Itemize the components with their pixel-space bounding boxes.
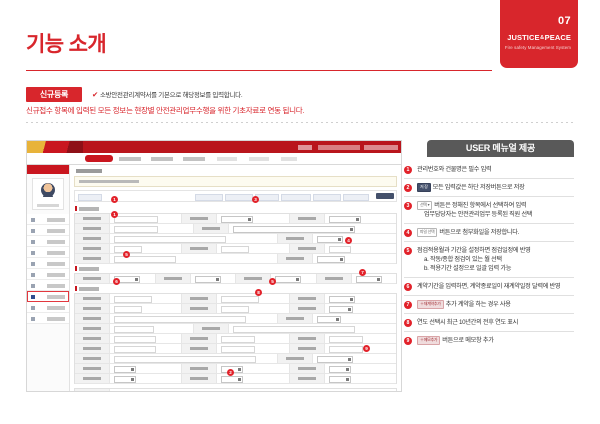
page-title: 기능 소개 — [26, 28, 106, 58]
panel-item-label: 버튼으로 메모창 추가 — [442, 337, 493, 344]
panel-item-text: 연도 선택시 최근 10년간의 전후 연도 표시 — [417, 318, 574, 327]
ctr-label-22 — [75, 374, 110, 383]
panel-item-number: 3 — [404, 202, 412, 210]
brand-subtitle: Fire safety Management System — [500, 45, 571, 50]
app-sidebar — [27, 165, 70, 392]
form-value-9 — [217, 244, 289, 253]
check-icon: ✔ — [92, 90, 98, 99]
ctr-row-5 — [75, 334, 396, 344]
app-section-title-contract — [75, 286, 397, 291]
form-value-12 — [313, 254, 396, 263]
app-nav-item-7[interactable] — [281, 157, 297, 161]
ctr-value-1 — [110, 294, 182, 303]
insp-value-2 — [191, 274, 237, 283]
ctr-label-13 — [290, 334, 325, 343]
ctr-row-7 — [75, 354, 396, 364]
section-note-text: 소방안전관리계약서를 기본으로 해당정보를 입력합니다. — [100, 92, 242, 99]
page-number: 07 — [500, 16, 571, 27]
ctr-label-23 — [182, 374, 217, 383]
form-row-1 — [75, 214, 396, 224]
ctr-input-7[interactable] — [114, 316, 246, 323]
ctr-input-5[interactable] — [221, 306, 249, 313]
form-row-2 — [75, 224, 396, 234]
insp-select-3[interactable] — [275, 276, 301, 283]
dotted-divider — [26, 122, 574, 123]
ctr-value-21 — [325, 364, 396, 373]
filter-select-7[interactable] — [343, 194, 369, 201]
insp-select-4[interactable] — [356, 276, 382, 283]
sidebar-header — [27, 165, 69, 174]
screenshot-marker-5b: 5 — [269, 278, 276, 285]
ctr-label-24 — [290, 374, 325, 383]
form-label-9 — [182, 244, 217, 253]
panel-item-label: 모든 입력값은 하단 저장버튼으로 저장 — [433, 184, 525, 191]
ctr-label-2 — [182, 294, 217, 303]
ctr-input-9[interactable] — [114, 326, 154, 333]
screenshot-marker-5a: 5 — [123, 251, 130, 258]
ctr-select-19[interactable] — [114, 366, 136, 373]
form-select-3[interactable] — [329, 216, 361, 223]
panel-item-text: 계약기간을 입력하면, 계약종료일이 재계약일정 달력에 반영 — [417, 282, 574, 291]
ctr-value-9 — [110, 324, 194, 333]
form-label-8 — [75, 244, 110, 253]
form-label-4 — [75, 224, 110, 233]
ctr-row-9 — [75, 374, 396, 384]
panel-item-number: 2 — [404, 184, 412, 192]
panel-item: 1관리번호와 건물명은 필수 입력 — [404, 161, 574, 179]
panel-item-label: 버튼은 정해진 항목에서 선택하여 입력 — [434, 202, 526, 209]
ctr-row-2 — [75, 304, 396, 314]
ctr-label-4 — [75, 304, 110, 313]
ctr-label-8 — [278, 314, 313, 323]
form-input-4[interactable] — [114, 226, 158, 233]
form-label-6 — [75, 234, 110, 243]
screenshot-marker-7: 7 — [359, 269, 366, 276]
form-value-5 — [229, 224, 396, 233]
ctr-label-5 — [182, 304, 217, 313]
panel-item-button-chip: ＋재계약추가 — [417, 300, 444, 309]
screenshot-marker-2: 2 — [227, 369, 234, 376]
ctr-row-1 — [75, 294, 396, 304]
ctr-input-1[interactable] — [114, 296, 152, 303]
form-value-7 — [313, 234, 396, 243]
ctr-value-24 — [325, 374, 396, 383]
form-value-10 — [325, 244, 396, 253]
sidebar-item-9[interactable] — [27, 302, 69, 313]
screenshot-marker-8: 8 — [255, 289, 262, 296]
app-memo-block — [74, 388, 397, 392]
form-label-2 — [182, 214, 217, 223]
panel-item-text: ＋메모추가버튼으로 메모창 추가 — [417, 336, 574, 345]
form-value-1 — [110, 214, 182, 223]
panel-item-number: 5 — [404, 247, 412, 255]
app-topbar — [27, 141, 401, 153]
screenshot-marker-1a: 1 — [111, 196, 118, 203]
ctr-input-17[interactable] — [114, 356, 256, 363]
ctr-value-18 — [313, 354, 396, 363]
sidebar-item-7[interactable] — [27, 280, 69, 291]
ctr-value-17 — [110, 354, 278, 363]
ctr-label-3 — [290, 294, 325, 303]
panel-item-text: 선택 ▾버튼은 정해진 항목에서 선택하여 입력 — [417, 201, 574, 210]
sidebar-item-2[interactable] — [27, 225, 69, 236]
ctr-date-18[interactable] — [317, 356, 353, 363]
filter-select-2[interactable] — [195, 194, 223, 201]
sidebar-item-selected[interactable] — [27, 291, 69, 302]
ctr-select-8[interactable] — [317, 316, 341, 323]
app-section-title-basic — [75, 206, 397, 211]
sidebar-profile-card — [32, 178, 64, 210]
panel-item-label: 연도 선택시 최근 10년간의 전후 연도 표시 — [417, 319, 518, 326]
panel-item-number: 6 — [404, 283, 412, 291]
filter-select-5[interactable] — [281, 194, 311, 201]
ctr-input-11[interactable] — [114, 336, 156, 343]
panel-item-subtext: a. 작동/종합 점검이 있는 월 선택 — [417, 255, 574, 264]
ctr-label-6 — [290, 304, 325, 313]
screenshot-marker-1b: 1 — [111, 211, 118, 218]
ctr-input-13[interactable] — [329, 336, 363, 343]
panel-item-list: 1관리번호와 건물명은 필수 입력2저 장모든 입력값은 하단 저장버튼으로 저… — [404, 161, 574, 349]
avatar — [41, 183, 55, 197]
form-label-10 — [290, 244, 325, 253]
ctr-label-19 — [75, 364, 110, 373]
ctr-value-6 — [325, 304, 396, 313]
form-select-7[interactable] — [317, 236, 343, 243]
brand-justice: JUSTICE — [507, 33, 539, 42]
form-value-8 — [110, 244, 182, 253]
slide-root: 07 JUSTICE&PEACE Fire safety Management … — [0, 0, 600, 424]
panel-item: 7＋재계약추가추가 계약을 하는 경우 사용 — [404, 296, 574, 314]
ctr-value-2 — [217, 294, 289, 303]
form-label-11 — [75, 254, 110, 263]
ctr-value-5 — [217, 304, 289, 313]
form-attach-button[interactable] — [317, 256, 345, 263]
panel-item-subtext: 업무담당자는 안전관리업무 등록된 직원 선택 — [417, 210, 574, 219]
ctr-row-4 — [75, 324, 396, 334]
app-body — [27, 165, 401, 392]
panel-heading: USER 메뉴얼 제공 — [427, 140, 574, 157]
panel-item-text: 점검적용월과 기간을 설정하면 점검일정에 반영 — [417, 246, 574, 255]
form-select-2[interactable] — [221, 216, 253, 223]
brand-peace: PEACE — [545, 33, 571, 42]
corner-badge: 07 JUSTICE&PEACE Fire safety Management … — [500, 0, 578, 68]
app-screenshot: 1 3 1 4 5 6 5 7 8 9 2 — [26, 140, 402, 392]
form-label-3 — [290, 214, 325, 223]
ctr-input-4[interactable] — [114, 306, 142, 313]
panel-item-button-chip: 파일 선택 — [417, 228, 437, 237]
filter-select-6[interactable] — [313, 194, 341, 201]
app-nav-active-tab[interactable] — [85, 155, 113, 162]
ctr-value-13 — [325, 334, 396, 343]
form-select-5[interactable] — [233, 226, 355, 233]
form-label-7 — [278, 234, 313, 243]
insp-label-1 — [75, 274, 110, 283]
app-main — [70, 165, 401, 392]
ctr-value-19 — [110, 364, 182, 373]
panel-item: 3선택 ▾버튼은 정해진 항목에서 선택하여 입력업무담당자는 안전관리업무 등… — [404, 197, 574, 224]
ctr-value-15 — [217, 344, 289, 353]
ctr-select-22[interactable] — [114, 376, 136, 383]
panel-item-text: ＋재계약추가추가 계약을 하는 경우 사용 — [417, 300, 574, 309]
form-label-12 — [278, 254, 313, 263]
insp-label-3 — [236, 274, 271, 283]
section-lead-text: 신규접수 항목에 입력된 모든 정보는 현장별 안전관리업무수행을 위한 기초자… — [26, 105, 304, 116]
ctr-select-23[interactable] — [221, 376, 243, 383]
brand-name: JUSTICE&PEACE — [500, 33, 571, 42]
panel-item-label: 점검적용월과 기간을 설정하면 점검일정에 반영 — [417, 247, 531, 254]
form-input-6[interactable] — [114, 236, 226, 243]
sidebar-item-10[interactable] — [27, 313, 69, 324]
app-logo — [27, 141, 83, 153]
sidebar-item-1[interactable] — [27, 214, 69, 225]
ctr-row-6 — [75, 344, 396, 354]
ctr-select-3[interactable] — [329, 296, 355, 303]
ctr-label-9 — [75, 324, 110, 333]
ctr-value-3 — [325, 294, 396, 303]
ctr-value-4 — [110, 304, 182, 313]
screenshot-marker-6: 6 — [113, 278, 120, 285]
ctr-label-14 — [75, 344, 110, 353]
ctr-label-11 — [75, 334, 110, 343]
screenshot-marker-9: 9 — [363, 345, 370, 352]
panel-item-number: 1 — [404, 166, 412, 174]
sidebar-item-3[interactable] — [27, 236, 69, 247]
app-nav-item-4[interactable] — [183, 157, 205, 161]
app-section-title-inspection — [75, 266, 397, 271]
app-page-heading — [76, 169, 102, 173]
panel-item-text: 저 장모든 입력값은 하단 저장버튼으로 저장 — [417, 183, 574, 192]
ctr-select-21[interactable] — [329, 366, 351, 373]
form-label-5 — [194, 224, 229, 233]
form-value-11 — [110, 254, 278, 263]
app-notice-box — [74, 176, 397, 187]
filter-select-3[interactable] — [225, 194, 253, 201]
app-filter-bar[interactable] — [74, 190, 397, 202]
insp-label-2 — [156, 274, 191, 283]
ctr-label-18 — [278, 354, 313, 363]
ctr-input-10[interactable] — [233, 326, 355, 333]
ctr-label-10 — [194, 324, 229, 333]
ctr-input-14[interactable] — [114, 346, 156, 353]
ctr-row-3 — [75, 314, 396, 324]
panel-item-label: 계약기간을 입력하면, 계약종료일이 재계약일정 달력에 반영 — [417, 283, 560, 290]
panel-item-number: 4 — [404, 229, 412, 237]
panel-item: 9＋메모추가버튼으로 메모창 추가 — [404, 332, 574, 349]
memo-textarea[interactable] — [112, 391, 394, 392]
form-value-3 — [325, 214, 396, 223]
ctr-label-16 — [290, 344, 325, 353]
panel-item: 2저 장모든 입력값은 하단 저장버튼으로 저장 — [404, 179, 574, 197]
ctr-row-8 — [75, 364, 396, 374]
form-input-9[interactable] — [221, 246, 249, 253]
panel-item: 6계약기간을 입력하면, 계약종료일이 재계약일정 달력에 반영 — [404, 278, 574, 296]
ctr-label-15 — [182, 344, 217, 353]
ctr-value-12 — [217, 334, 289, 343]
panel-item: 8연도 선택시 최근 10년간의 전후 연도 표시 — [404, 314, 574, 332]
panel-item-number: 8 — [404, 319, 412, 327]
sidebar-item-5[interactable] — [27, 258, 69, 269]
ctr-value-7 — [110, 314, 278, 323]
ctr-value-16 — [325, 344, 396, 353]
ctr-label-21 — [290, 364, 325, 373]
ctr-input-15[interactable] — [221, 346, 255, 353]
form-label-1 — [75, 214, 110, 223]
app-form-grid-contract — [74, 293, 397, 384]
ctr-input-16[interactable] — [329, 346, 363, 353]
title-divider — [26, 70, 492, 71]
panel-item-number: 9 — [404, 337, 412, 345]
ctr-value-11 — [110, 334, 182, 343]
form-input-1[interactable] — [114, 216, 158, 223]
filter-select-1[interactable] — [78, 194, 102, 201]
panel-item-button-chip: 선택 ▾ — [417, 201, 432, 210]
app-form-grid-inspection — [74, 273, 397, 284]
panel-item-text: 파일 선택버튼으로 첨부화일을 저장합니다. — [417, 228, 574, 237]
app-nav-item-3[interactable] — [151, 157, 173, 161]
panel-item-button-chip: 저 장 — [417, 183, 431, 192]
ctr-select-6[interactable] — [329, 306, 353, 313]
ctr-value-8 — [313, 314, 396, 323]
ctr-value-22 — [110, 374, 182, 383]
sidebar-item-6[interactable] — [27, 269, 69, 280]
screenshot-marker-4: 4 — [345, 237, 352, 244]
insp-value-3 — [271, 274, 317, 283]
filter-search-button[interactable] — [376, 193, 394, 199]
ctr-label-1 — [75, 294, 110, 303]
ctr-select-24[interactable] — [329, 376, 351, 383]
panel-item-button-chip: ＋메모추가 — [417, 336, 440, 345]
ctr-label-17 — [75, 354, 110, 363]
panel-item-text: 관리번호와 건물명은 필수 입력 — [417, 165, 574, 174]
form-value-6 — [110, 234, 278, 243]
insp-label-4 — [317, 274, 352, 283]
section-tag-badge: 신규등록 — [26, 87, 82, 102]
ctr-value-10 — [229, 324, 396, 333]
form-value-4 — [110, 224, 194, 233]
screenshot-marker-3a: 3 — [252, 196, 259, 203]
insp-select-2[interactable] — [195, 276, 221, 283]
insp-value-4 — [352, 274, 397, 283]
form-input-10[interactable] — [329, 246, 351, 253]
form-value-2 — [217, 214, 289, 223]
panel-item-label: 추가 계약을 하는 경우 사용 — [446, 301, 511, 308]
section-note: ✔소방안전관리계약서를 기본으로 해당정보를 입력합니다. — [92, 89, 242, 99]
app-nav-item-6[interactable] — [249, 157, 269, 161]
app-nav-item-5[interactable] — [217, 157, 237, 161]
insp-row-1 — [75, 274, 396, 284]
panel-item: 5점검적용월과 기간을 설정하면 점검일정에 반영a. 작동/종합 점검이 있는… — [404, 242, 574, 278]
ctr-label-12 — [182, 334, 217, 343]
app-topbar-user-area — [298, 145, 398, 150]
sidebar-item-4[interactable] — [27, 247, 69, 258]
panel-item-label: 버튼으로 첨부화일을 저장합니다. — [439, 229, 519, 236]
app-nav-item-2[interactable] — [119, 157, 141, 161]
app-nav — [27, 153, 401, 165]
panel-item-number: 7 — [404, 301, 412, 309]
user-manual-panel: USER 메뉴얼 제공 1관리번호와 건물명은 필수 입력2저 장모든 입력값은… — [404, 140, 574, 349]
ctr-label-7 — [75, 314, 110, 323]
memo-label — [75, 389, 110, 392]
ctr-label-20 — [182, 364, 217, 373]
panel-item-subtext: b. 적용기간 설정으로 일괄 입력 가능 — [417, 264, 574, 273]
ctr-input-2[interactable] — [221, 296, 259, 303]
avatar-caption — [37, 204, 59, 207]
ctr-input-12[interactable] — [221, 336, 255, 343]
panel-item: 4파일 선택버튼으로 첨부화일을 저장합니다. — [404, 224, 574, 242]
ctr-value-14 — [110, 344, 182, 353]
panel-item-label: 관리번호와 건물명은 필수 입력 — [417, 166, 491, 173]
